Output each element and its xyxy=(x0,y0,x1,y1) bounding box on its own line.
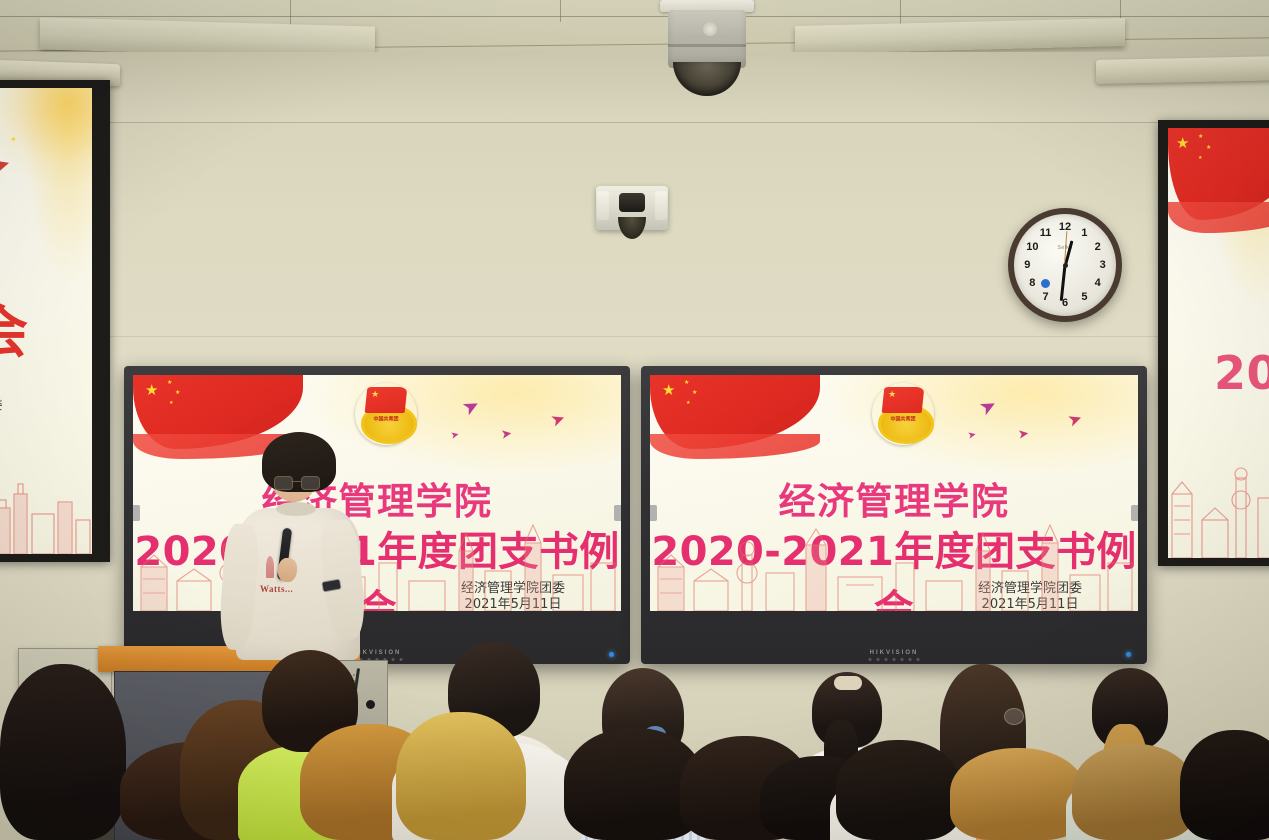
clock-numeral-10: 10 xyxy=(1026,241,1038,253)
bird-silhouette: ➤ xyxy=(976,394,1000,420)
slide-right-title-fragment: 202 xyxy=(1214,346,1269,400)
display-left[interactable]: ★ ★ ★ ★ ★ 中国共青团 ➤ ➤ ➤ ➤ 经济管理学院 2020-2021… xyxy=(124,366,630,664)
star-speck: ✦ xyxy=(52,116,57,122)
china-flag-graphic xyxy=(650,375,820,449)
clock-center-pin xyxy=(1063,263,1068,268)
display-left-side-button[interactable] xyxy=(614,505,621,521)
hair-clip xyxy=(834,676,862,690)
emblem-text: 中国共青团 xyxy=(373,415,398,422)
skyline-graphic xyxy=(0,464,92,554)
clock-numeral-3: 3 xyxy=(1100,259,1106,271)
audience-member xyxy=(1180,730,1269,840)
clock-numeral-4: 4 xyxy=(1095,277,1101,289)
clock-numeral-1: 1 xyxy=(1081,227,1087,239)
skyline-graphic xyxy=(133,515,621,611)
slide-right-main: ★ ★ ★ ★ ★ 中国共青团 ➤ ➤ ➤ ➤ 经济管理学院 2020-2021… xyxy=(650,375,1138,611)
camera-housing-groove xyxy=(668,44,747,47)
flag-star-large: ★ xyxy=(662,383,675,398)
star-speck: ✦ xyxy=(10,136,17,144)
display-right-bezel: HIKVISION xyxy=(641,642,1147,664)
wall-seam xyxy=(0,122,1269,123)
camera-bracket-left xyxy=(597,191,609,220)
presenter-glasses xyxy=(274,476,318,488)
projection-screen-tabs-left xyxy=(100,84,110,560)
youth-league-emblem: ★ 中国共青团 xyxy=(872,383,934,445)
display-brand-label: HIKVISION xyxy=(870,650,919,656)
emblem-star: ★ xyxy=(371,390,379,399)
ceiling-dome-camera xyxy=(660,0,754,112)
bird-silhouette: ➤ xyxy=(500,426,513,440)
slide-left-main: ★ ★ ★ ★ ★ 中国共青团 ➤ ➤ ➤ ➤ 经济管理学院 2020-2021… xyxy=(133,375,621,611)
camera-lens xyxy=(619,193,645,212)
skyline-graphic xyxy=(650,515,1138,611)
emblem-text: 中国共青团 xyxy=(890,415,915,422)
presenter-shirt-text: Watts... xyxy=(260,584,293,594)
bird-silhouette: ➤ xyxy=(1017,426,1030,440)
flag-star-small: ★ xyxy=(686,401,690,406)
wall-clock: Seiko 12 1 2 3 4 5 6 7 8 9 10 11 xyxy=(1008,208,1122,322)
camera-bracket-right xyxy=(655,191,667,220)
bird-silhouette: ➤ xyxy=(450,430,460,442)
camera-housing xyxy=(668,10,747,68)
display-control-keys[interactable] xyxy=(869,658,920,661)
display-left-side-button[interactable] xyxy=(133,505,140,521)
flag-star-small: ★ xyxy=(1198,156,1202,161)
presenter-shirt-graphic xyxy=(266,556,274,578)
bird-silhouette: ➤ xyxy=(1066,409,1085,430)
wall-upper-band xyxy=(0,52,1269,122)
bird-silhouette: ➤ xyxy=(459,394,483,420)
ceiling-tile-seam xyxy=(560,0,561,22)
clock-minute-hand xyxy=(1060,265,1066,301)
audience-member xyxy=(836,740,968,840)
display-right-screen: ★ ★ ★ ★ ★ 中国共青团 ➤ ➤ ➤ ➤ 经济管理学院 2020-2021… xyxy=(650,375,1138,611)
display-right-side-button[interactable] xyxy=(1131,505,1138,521)
presenter-collar xyxy=(276,502,316,516)
clock-numeral-2: 2 xyxy=(1095,241,1101,253)
clock-numeral-5: 5 xyxy=(1081,291,1087,303)
clock-numeral-12: 12 xyxy=(1059,221,1071,233)
flag-star-small: ★ xyxy=(684,380,689,386)
display-power-led xyxy=(1126,652,1131,657)
clock-numeral-9: 9 xyxy=(1024,259,1030,271)
audience-hair xyxy=(1072,744,1196,840)
flag-star-large: ★ xyxy=(1176,136,1189,151)
audience-hair xyxy=(836,740,962,840)
display-right-side-button[interactable] xyxy=(650,505,657,521)
audience-member xyxy=(396,712,572,840)
eyeglasses xyxy=(1004,708,1024,725)
clock-face: Seiko 12 1 2 3 4 5 6 7 8 9 10 11 xyxy=(1014,214,1116,316)
display-power-led xyxy=(609,652,614,657)
flag-star-large: ★ xyxy=(145,383,158,398)
slide-left-partial: ➤ ✦ ✦ 会 委 xyxy=(0,88,92,554)
slide-left-subtitle-fragment: 委 xyxy=(0,398,16,414)
flag-star-small: ★ xyxy=(1206,145,1211,151)
flag-star-small: ★ xyxy=(692,390,697,396)
wall-seam xyxy=(0,336,1269,337)
audience-hair xyxy=(0,664,126,840)
bird-silhouette: ➤ xyxy=(967,430,977,442)
ceiling-tile-seam xyxy=(0,16,1269,17)
camera-lens-dome xyxy=(673,62,741,96)
bird-silhouette: ➤ xyxy=(549,409,568,430)
slide-right-partial: ★ ★ ★ ★ 202 xyxy=(1168,128,1269,558)
flag-star-small: ★ xyxy=(1198,134,1203,140)
clock-date-dot xyxy=(1041,279,1050,288)
classroom-photo: Seiko 12 1 2 3 4 5 6 7 8 9 10 11 ➤ ✦ ✦ 会… xyxy=(0,0,1269,840)
clock-numeral-11: 11 xyxy=(1040,227,1052,239)
wall-tracking-camera xyxy=(596,186,668,230)
skyline-graphic xyxy=(1168,448,1269,558)
flag-star-small: ★ xyxy=(167,380,172,386)
clock-numeral-8: 8 xyxy=(1029,277,1035,289)
flag-star-small: ★ xyxy=(169,401,173,406)
audience-member xyxy=(0,664,140,840)
audience-hair xyxy=(396,712,526,840)
flag-star-small: ★ xyxy=(175,390,180,396)
clock-numeral-7: 7 xyxy=(1043,291,1049,303)
projection-screen-housing-right xyxy=(1096,56,1269,84)
display-left-screen: ★ ★ ★ ★ ★ 中国共青团 ➤ ➤ ➤ ➤ 经济管理学院 2020-2021… xyxy=(133,375,621,611)
emblem-star: ★ xyxy=(888,390,896,399)
slide-left-title-fragment: 会 xyxy=(0,288,76,369)
display-right[interactable]: ★ ★ ★ ★ ★ 中国共青团 ➤ ➤ ➤ ➤ 经济管理学院 2020-2021… xyxy=(641,366,1147,664)
audience-hair xyxy=(1180,730,1269,840)
presenter: Watts... xyxy=(218,432,368,662)
